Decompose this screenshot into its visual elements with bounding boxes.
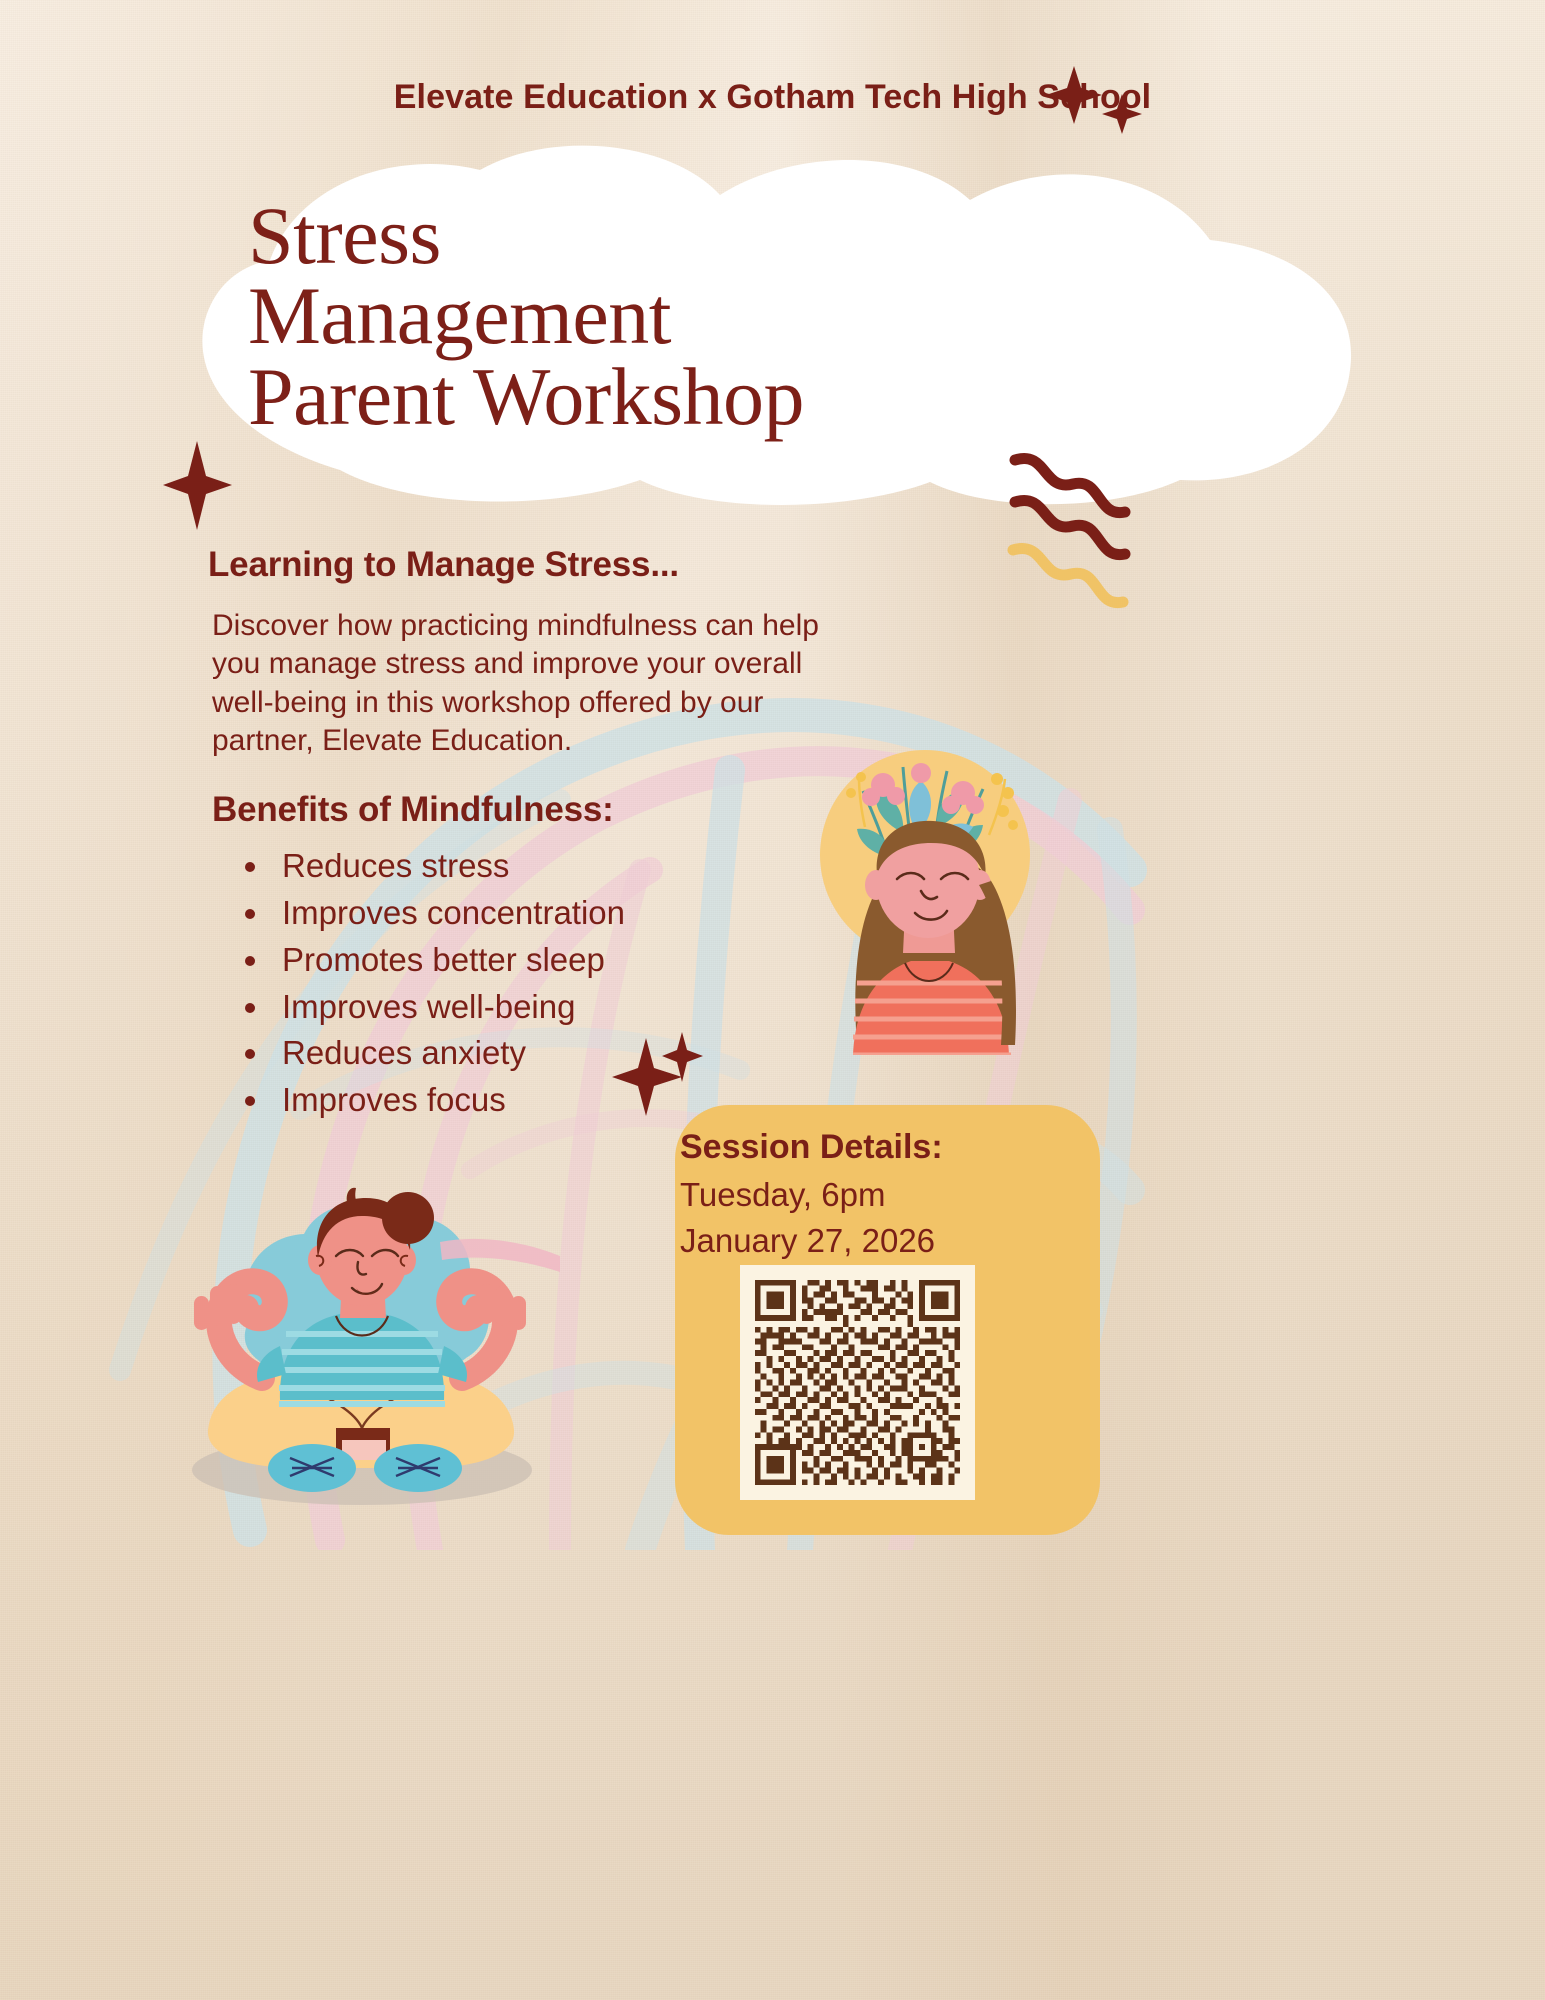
squiggle-decoration xyxy=(985,440,1165,630)
sparkle-icon-left xyxy=(160,438,235,533)
qr-code-icon[interactable] xyxy=(749,1274,966,1491)
list-item: Promotes better sleep xyxy=(272,937,625,984)
intro-heading: Learning to Manage Stress... xyxy=(208,545,679,585)
poster-canvas: Elevate Education x Gotham Tech High Sch… xyxy=(0,0,1545,2000)
sparkle-icon xyxy=(1040,62,1150,152)
session-date: January 27, 2026 xyxy=(680,1222,935,1260)
benefits-heading: Benefits of Mindfulness: xyxy=(212,790,614,830)
partner-kicker: Elevate Education x Gotham Tech High Sch… xyxy=(0,78,1545,117)
session-time: Tuesday, 6pm xyxy=(680,1176,885,1214)
qr-code[interactable] xyxy=(740,1265,975,1500)
page-title: Stress Management Parent Workshop xyxy=(248,196,1048,437)
sparkle-icon-mid xyxy=(610,1030,705,1120)
list-item: Reduces anxiety xyxy=(272,1030,625,1077)
intro-line-1: Discover how practicing mindfulness can … xyxy=(212,607,942,645)
title-line-1: Stress xyxy=(248,196,1048,276)
session-details-heading: Session Details: xyxy=(680,1128,943,1167)
list-item: Improves well-being xyxy=(272,984,625,1031)
title-line-2: Management xyxy=(248,276,1048,356)
intro-line-2: you manage stress and improve your overa… xyxy=(212,645,942,683)
list-item: Improves concentration xyxy=(272,890,625,937)
benefits-list: Reduces stress Improves concentration Pr… xyxy=(230,843,625,1124)
list-item: Reduces stress xyxy=(272,843,625,890)
title-line-3: Parent Workshop xyxy=(248,357,1048,437)
flower-head-illustration xyxy=(765,715,1065,1055)
meditating-person-illustration xyxy=(140,1110,580,1510)
